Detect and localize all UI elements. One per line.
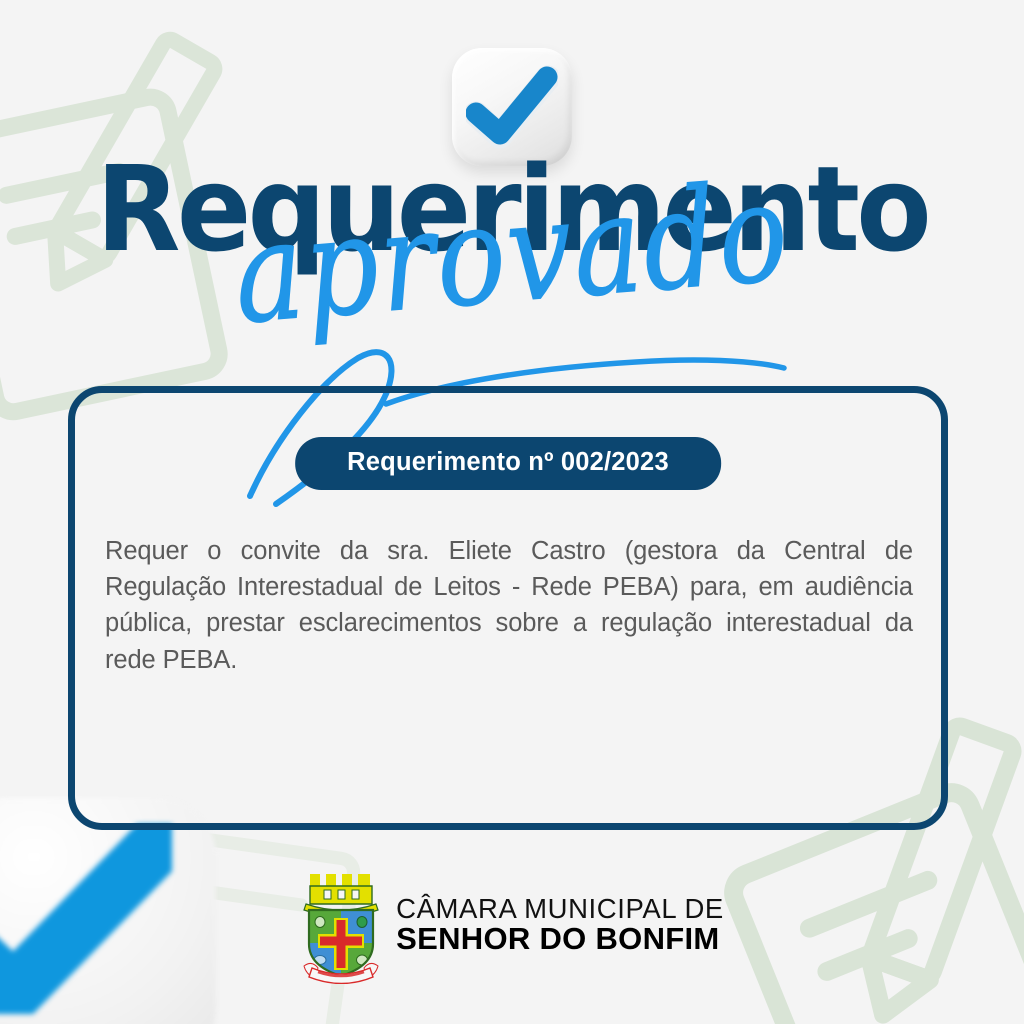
footer-text: CÂMARA MUNICIPAL DE SENHOR DO BONFIM bbox=[396, 895, 724, 956]
headline: Requerimento aprovado bbox=[0, 150, 1024, 360]
requirement-number-badge: Requerimento nº 002/2023 bbox=[295, 437, 721, 490]
check-icon bbox=[466, 64, 558, 150]
footer: CÂMARA MUNICIPAL DE SENHOR DO BONFIM bbox=[0, 866, 1024, 984]
footer-line-2: SENHOR DO BONFIM bbox=[396, 923, 724, 955]
requirement-body-text: Requer o convite da sra. Eliete Castro (… bbox=[105, 533, 913, 678]
requirement-card: Requerimento nº 002/2023 Requer o convit… bbox=[68, 386, 948, 830]
footer-line-1: CÂMARA MUNICIPAL DE bbox=[396, 895, 724, 924]
coat-of-arms-icon bbox=[300, 866, 382, 984]
